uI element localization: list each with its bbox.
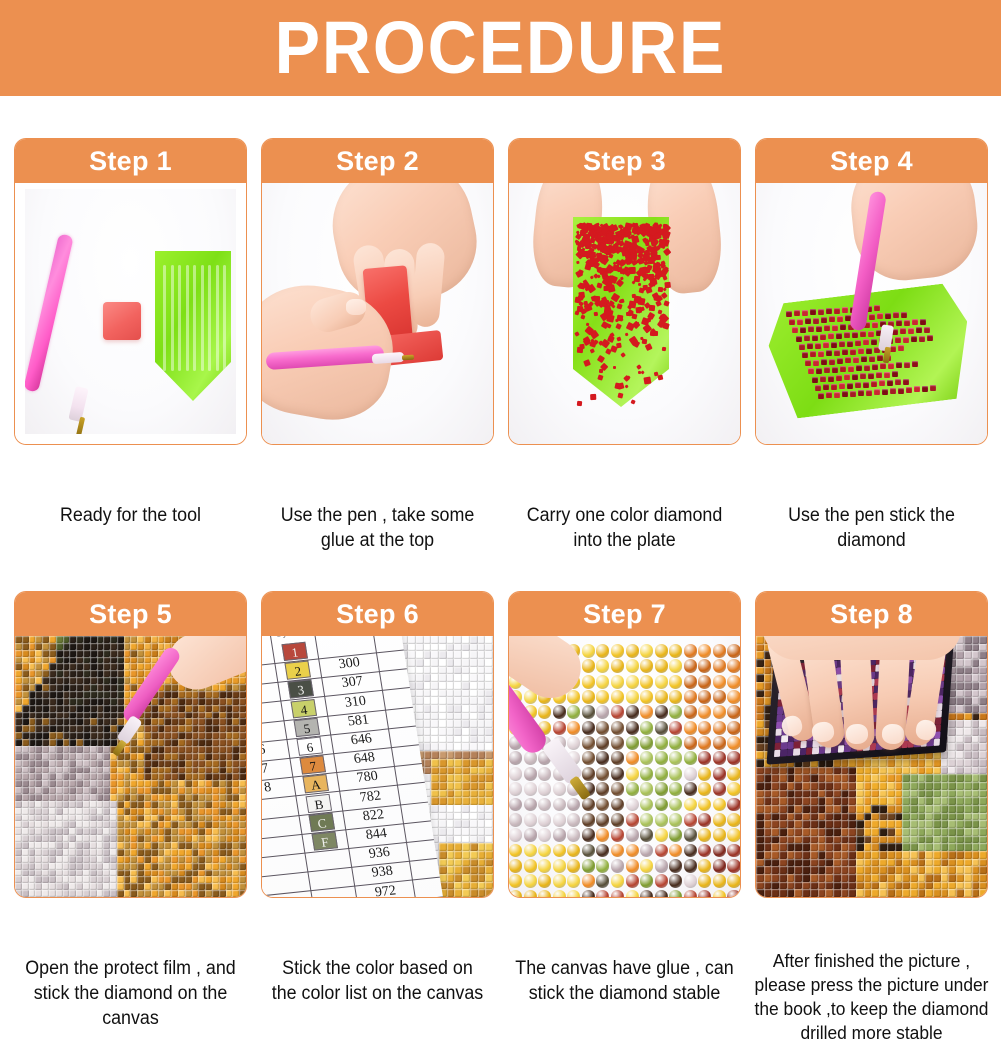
steps-row-2: Step 5 Open the protect film , and stick… [0,549,1001,1002]
step-1-header: Step 1 [15,139,246,183]
step-3-photo [509,183,740,444]
step-1-caption: Ready for the tool [21,503,240,528]
step-4-card: Step 4 [755,138,988,445]
step-3-card: Step 3 [508,138,741,445]
step-8-header: Step 8 [756,592,987,636]
step-1-label: Step 1 [89,146,172,177]
step-5-header: Step 5 [15,592,246,636]
step-8-card: Step 8 [755,591,988,898]
step-6-card: Step 6 Symbol DMC [261,591,494,898]
step-2-caption: Use the pen , take some glue at the top [268,503,487,553]
step-2-photo [262,183,493,444]
step-7-card: Step 7 [508,591,741,898]
step-7-photo [509,636,740,897]
step-7-header: Step 7 [509,592,740,636]
step-card-2: Step 2 [261,138,494,445]
step-2-card: Step 2 [261,138,494,445]
step-card-6: Step 6 Symbol DMC [261,591,494,898]
step-3-label: Step 3 [583,146,666,177]
step-4-photo [756,183,987,444]
step-5-card: Step 5 [14,591,247,898]
step-6-label: Step 6 [336,599,419,630]
step-card-4: Step 4 Use the pen [755,138,988,445]
steps-grid: Step 1 Ready for the tool [0,96,1001,1002]
step-3-header: Step 3 [509,139,740,183]
step-6-photo: Symbol DMC 11223003330744310555816664677… [262,636,493,897]
step-1-photo [15,183,246,444]
glue-square-icon [103,302,141,340]
steps-row-1: Step 1 Ready for the tool [0,96,1001,549]
step-4-caption: Use the pen stick the diamond [762,503,981,553]
step-8-caption: After finished the picture , please pres… [753,949,991,1045]
step-card-1: Step 1 Ready for the tool [14,138,247,445]
step-4-label: Step 4 [830,146,913,177]
step-7-label: Step 7 [583,599,666,630]
step-card-3: Step 3 Carry one color diamond into the … [508,138,741,445]
step-2-label: Step 2 [336,146,419,177]
step-6-caption: Stick the color based on the color list … [268,956,487,1006]
page-title: PROCEDURE [275,11,727,85]
step-8-photo [756,636,987,897]
step-5-label: Step 5 [89,599,172,630]
step-4-header: Step 4 [756,139,987,183]
step-8-label: Step 8 [830,599,913,630]
step-card-5: Step 5 Open the protect film , and stick… [14,591,247,898]
page-header-banner: PROCEDURE [0,0,1001,96]
chart-col-header-symbol: Symbol [275,636,309,639]
step-card-8: Step 8 After finished the picture , plea… [755,591,988,898]
step-2-header: Step 2 [262,139,493,183]
step-5-photo [15,636,246,897]
procedure-infographic: PROCEDURE Step 1 [0,0,1001,1001]
step-5-caption: Open the protect film , and stick the di… [21,956,240,1031]
step-1-card: Step 1 [14,138,247,445]
step-7-caption: The canvas have glue , can stick the dia… [515,956,734,1006]
step-6-header: Step 6 [262,592,493,636]
step-3-caption: Carry one color diamond into the plate [515,503,734,553]
step-card-7: Step 7 The canvas have glue , can [508,591,741,898]
